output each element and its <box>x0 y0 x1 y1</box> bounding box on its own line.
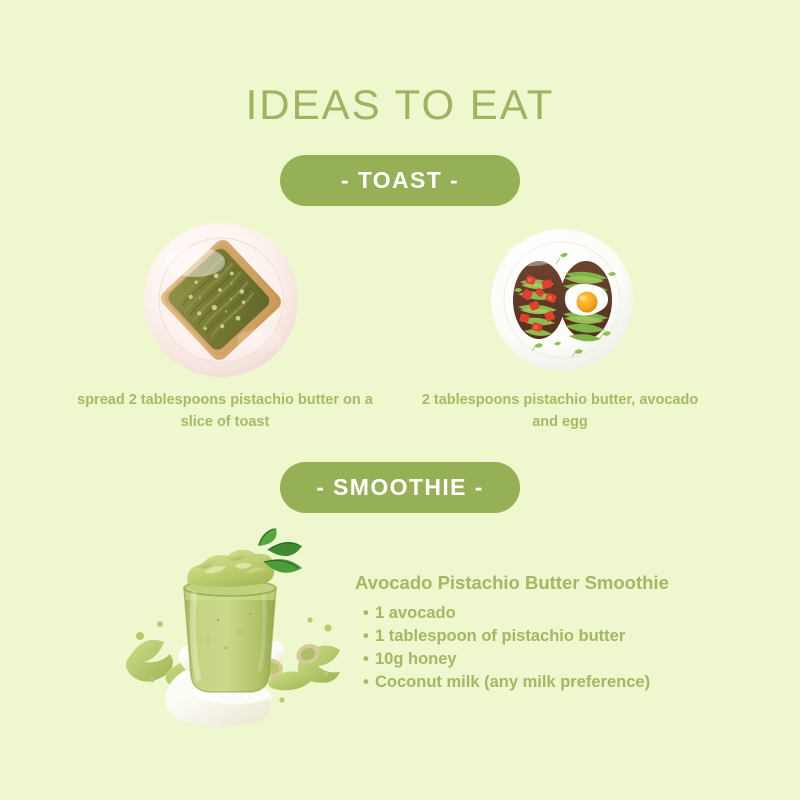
page-title: IDEAS TO EAT <box>0 80 800 130</box>
section-banner-smoothie: - SMOOTHIE - <box>280 462 520 513</box>
smoothie-recipe: Avocado Pistachio Butter Smoothie 1 avoc… <box>355 570 735 694</box>
pistachio-butter-toast-photo <box>143 222 299 378</box>
avocado-egg-toast-photo <box>490 228 634 372</box>
recipe-ingredient-list: 1 avocado 1 tablespoon of pistachio butt… <box>355 602 735 694</box>
list-item: 1 avocado <box>363 602 735 625</box>
list-item: 10g honey <box>363 648 735 671</box>
caption-avocado-egg-toast: 2 tablespoons pistachio butter, avocado … <box>420 389 700 433</box>
list-item: 1 tablespoon of pistachio butter <box>363 625 735 648</box>
section-banner-toast-label: - TOAST - <box>341 167 459 194</box>
caption-pistachio-toast: spread 2 tablespoons pistachio butter on… <box>75 389 375 433</box>
section-banner-smoothie-label: - SMOOTHIE - <box>316 474 484 501</box>
poster-canvas: IDEAS TO EAT - TOAST - <box>0 0 800 800</box>
section-banner-toast: - TOAST - <box>280 155 520 206</box>
avocado-smoothie-photo <box>122 528 350 728</box>
recipe-title: Avocado Pistachio Butter Smoothie <box>355 570 735 596</box>
list-item: Coconut milk (any milk preference) <box>363 671 735 694</box>
